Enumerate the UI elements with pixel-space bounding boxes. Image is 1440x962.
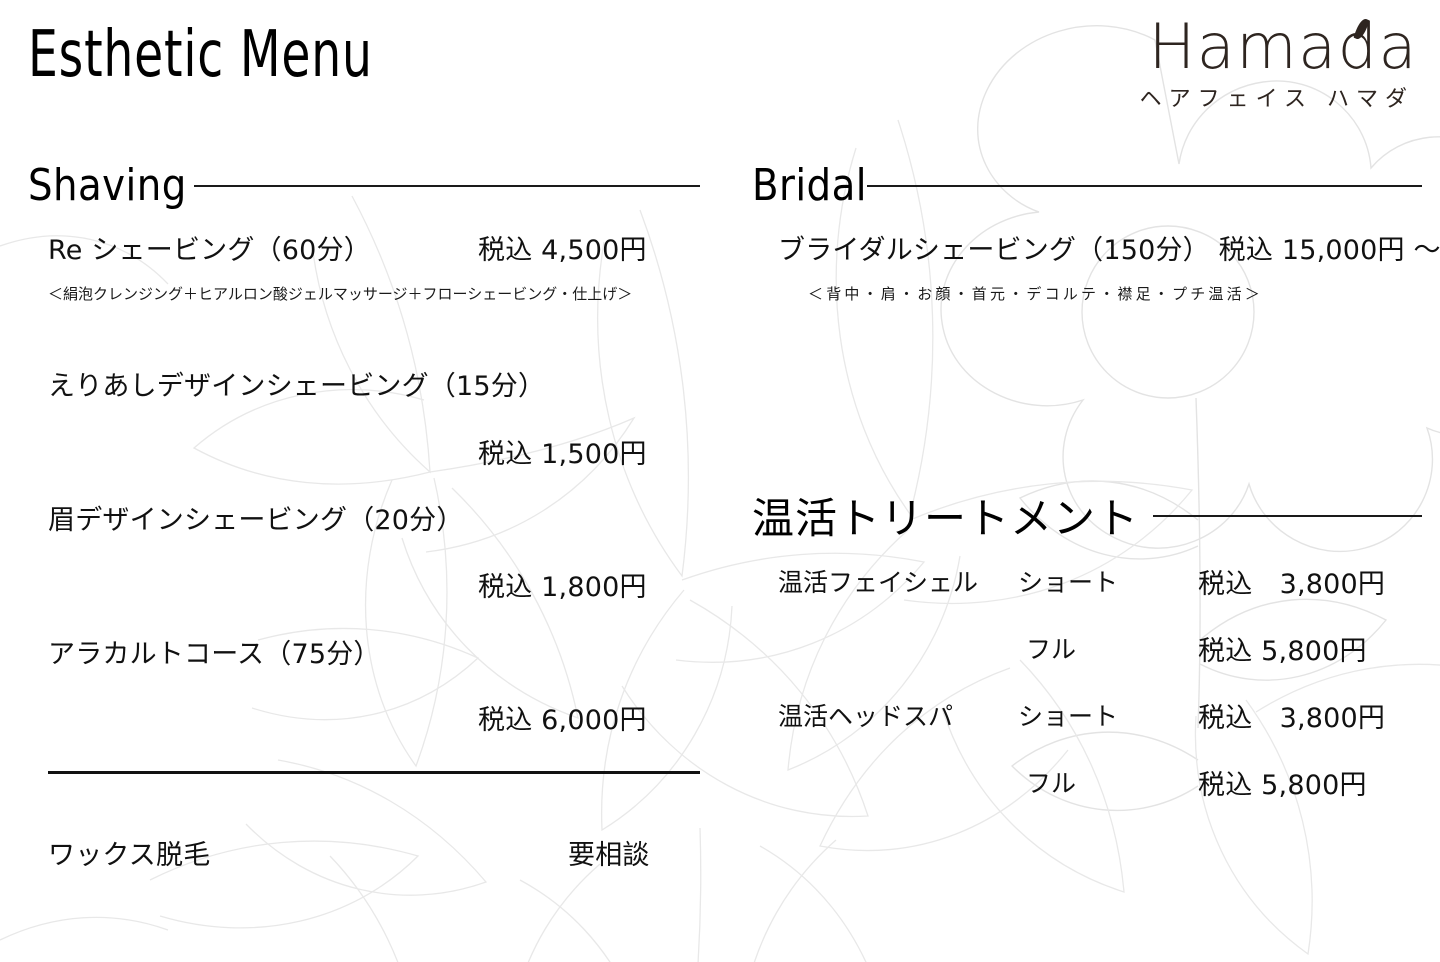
section-label-onkatsu: 温活トリートメント	[752, 485, 1139, 546]
menu-item-description: ＜絹泡クレンジング＋ヒアルロン酸ジェルマッサージ＋フローシェービング・仕上げ＞	[48, 283, 632, 304]
logo-text: Hamada	[1149, 10, 1418, 83]
treatment-price: 税込 3,800円	[1198, 562, 1385, 601]
logo-wordmark: Hamada	[1149, 14, 1418, 79]
menu-item-name: 眉デザインシェービング（20分）	[48, 498, 464, 537]
menu-item-description: ＜背中・肩・お顔・首元・デコルテ・襟足・プチ温活＞	[808, 283, 1263, 304]
menu-item-price: 税込 6,000円	[478, 698, 647, 737]
treatment-name: 温活フェイシェル	[778, 563, 978, 599]
menu-item-price: 税込 1,500円	[478, 432, 647, 471]
brand-logo: Hamada ヘアフェイス ハマダ	[1140, 14, 1418, 113]
treatment-variant: ショート	[1018, 697, 1118, 733]
treatment-price: 税込 5,800円	[1198, 763, 1367, 802]
menu-item-price: 税込 1,800円	[478, 565, 647, 604]
shaving-divider	[48, 771, 700, 774]
section-heading-onkatsu: 温活トリートメント	[752, 485, 1422, 546]
menu-item-name: Re シェービング（60分）	[48, 228, 371, 267]
treatment-name: 温活ヘッドスパ	[778, 697, 953, 733]
treatment-variant: ショート	[1018, 563, 1118, 599]
menu-item-price: 税込 4,500円	[478, 228, 647, 267]
section-label-bridal: Bridal	[752, 160, 867, 211]
menu-item-price: 要相談	[568, 833, 650, 872]
logo-subtitle: ヘアフェイス ハマダ	[1140, 81, 1418, 113]
menu-item-name: えりあしデザインシェービング（15分）	[48, 364, 545, 403]
section-rule	[194, 185, 700, 187]
menu-item-name: ワックス脱毛	[48, 833, 210, 872]
page-title: Esthetic Menu	[28, 18, 373, 92]
treatment-variant: フル	[1026, 764, 1076, 800]
section-heading-bridal: Bridal	[752, 160, 1422, 211]
section-rule	[867, 185, 1422, 187]
menu-page: Esthetic Menu Hamada ヘアフェイス ハマダ Shaving …	[0, 0, 1440, 962]
section-label-shaving: Shaving	[28, 160, 187, 211]
menu-item-name: アラカルトコース（75分）	[48, 632, 381, 671]
section-rule	[1153, 515, 1422, 517]
treatment-price: 税込 5,800円	[1198, 629, 1367, 668]
treatment-variant: フル	[1026, 630, 1076, 666]
section-heading-shaving: Shaving	[28, 160, 700, 211]
treatment-price: 税込 3,800円	[1198, 696, 1385, 735]
menu-item-name: ブライダルシェービング（150分） 税込 15,000円 〜	[778, 228, 1440, 267]
